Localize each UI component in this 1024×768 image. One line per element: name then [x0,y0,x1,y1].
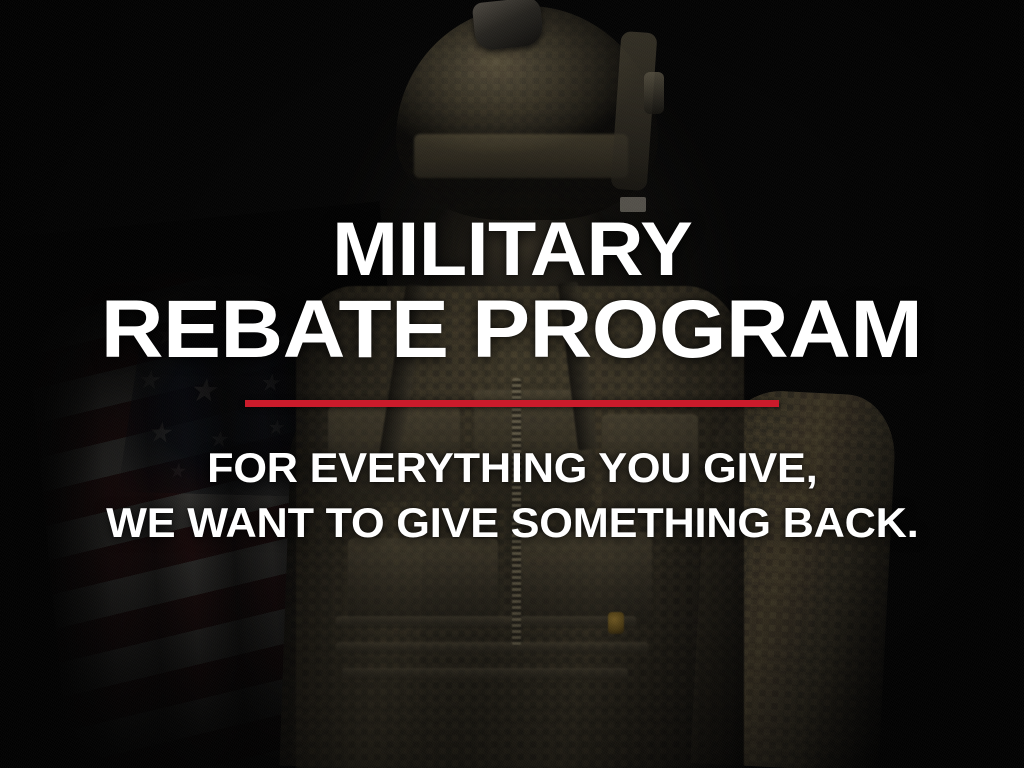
subhead-line-1: FOR EVERYTHING YOU GIVE, [207,444,817,491]
subhead-line-2: WE WANT TO GIVE SOMETHING BACK. [106,499,918,546]
text-overlay: MILITARY REBATE PROGRAM FOR EVERYTHING Y… [0,0,1024,768]
accent-divider-rule [245,400,779,407]
headline-line-1: MILITARY [332,214,692,287]
headline-line-2: REBATE PROGRAM [101,291,923,370]
military-rebate-poster: ★ ★ ★ ★ ★ ★ ★ ★ ★ ★ [0,0,1024,768]
